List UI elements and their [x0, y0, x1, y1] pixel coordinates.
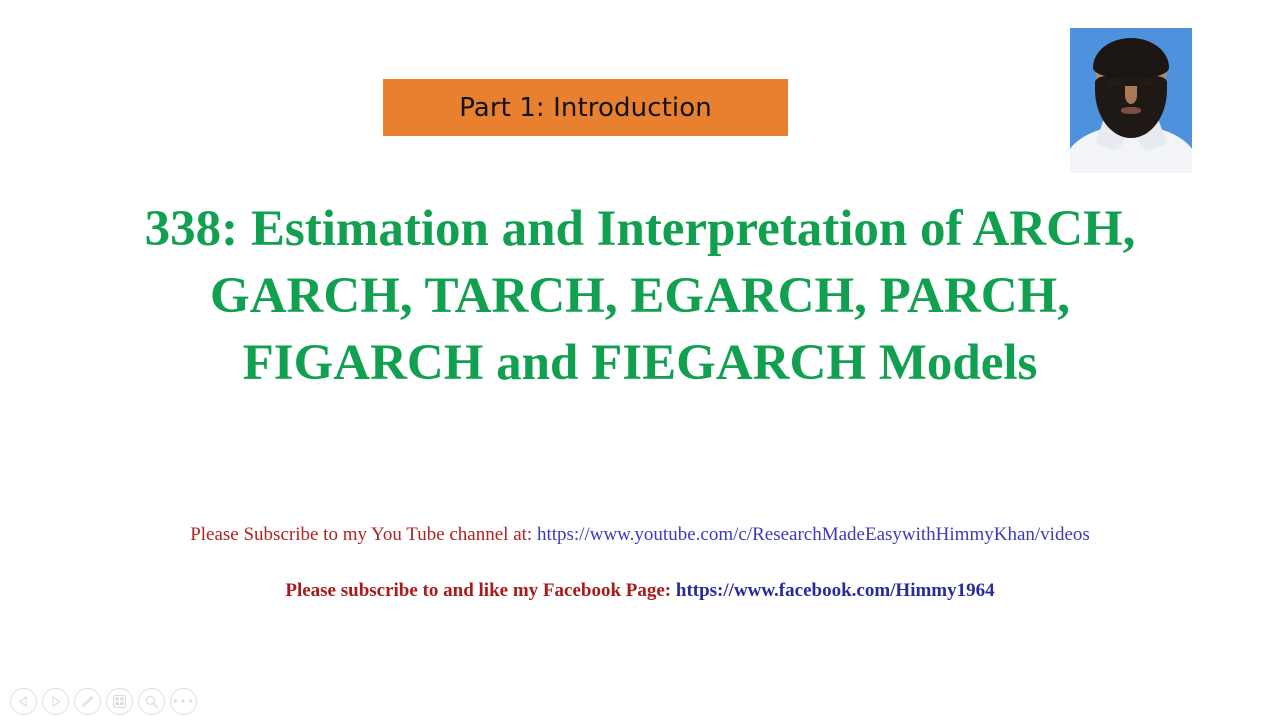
- photo-eye-left: [1107, 80, 1120, 86]
- pen-icon: [80, 694, 95, 709]
- next-slide-button[interactable]: [42, 688, 69, 715]
- facebook-subscribe-label: Please subscribe to and like my Facebook…: [285, 580, 671, 601]
- photo-eyebrow-left: [1105, 73, 1121, 77]
- previous-slide-button[interactable]: [10, 688, 37, 715]
- photo-hair: [1093, 38, 1169, 78]
- all-slides-button[interactable]: [106, 688, 133, 715]
- magnifier-icon: [144, 694, 159, 709]
- part-banner: Part 1: Introduction: [383, 79, 788, 136]
- triangle-right-icon: [50, 696, 61, 707]
- youtube-channel-link[interactable]: https://www.youtube.com/c/ResearchMadeEa…: [537, 524, 1090, 545]
- pen-annotation-button[interactable]: [74, 688, 101, 715]
- part-banner-label: Part 1: Introduction: [459, 93, 712, 123]
- zoom-button[interactable]: [138, 688, 165, 715]
- photo-mouth: [1121, 107, 1141, 114]
- photo-eyebrow-right: [1141, 73, 1157, 77]
- youtube-subscribe-line: Please Subscribe to my You Tube channel …: [0, 524, 1280, 546]
- player-toolbar: •••: [10, 688, 197, 715]
- slides-grid-icon: [112, 694, 127, 709]
- facebook-subscribe-line: Please subscribe to and like my Facebook…: [0, 580, 1280, 602]
- ellipsis-icon: •••: [172, 696, 194, 707]
- presenter-photo: [1070, 28, 1192, 173]
- facebook-page-link[interactable]: https://www.facebook.com/Himmy1964: [676, 580, 995, 601]
- photo-nose: [1125, 86, 1137, 104]
- more-options-button[interactable]: •••: [170, 688, 197, 715]
- page-title: 338: Estimation and Interpretation of AR…: [86, 196, 1194, 397]
- youtube-subscribe-label: Please Subscribe to my You Tube channel …: [190, 524, 532, 545]
- presentation-slide: Part 1: Introduction 338: Estimation and…: [0, 0, 1280, 720]
- photo-eye-right: [1142, 80, 1155, 86]
- triangle-left-icon: [18, 696, 29, 707]
